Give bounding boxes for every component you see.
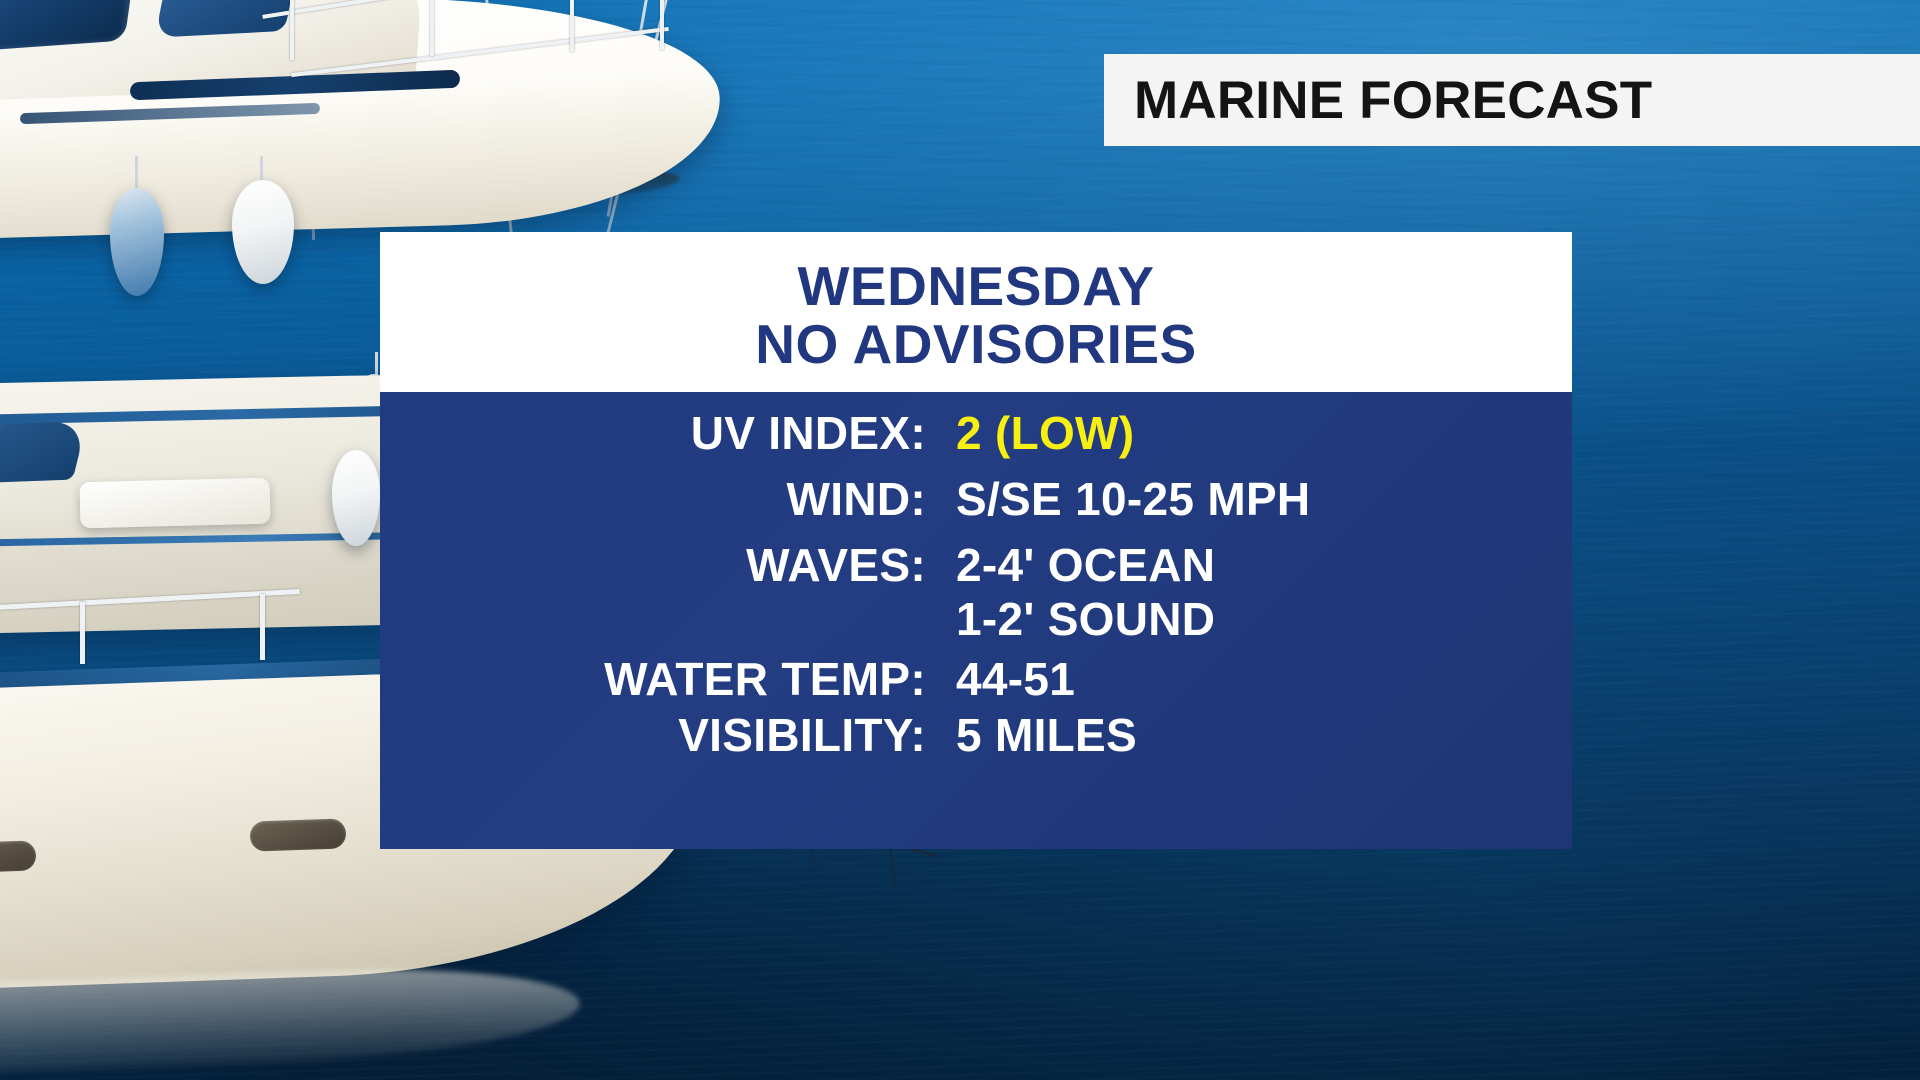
row-value: S/SE 10-25 MPH <box>926 472 1310 526</box>
row-value: 1-2' SOUND <box>380 592 1215 646</box>
row-value: 2 (LOW) <box>926 406 1134 460</box>
forecast-details-list: UV INDEX: 2 (LOW) WIND: S/SE 10-25 MPH W… <box>380 392 1572 849</box>
middle-yacht-seat <box>79 478 270 529</box>
lower-yacht-reflection <box>0 962 581 1080</box>
fender-line <box>260 156 263 182</box>
forecast-row-uv-index: UV INDEX: 2 (LOW) <box>380 406 1572 460</box>
hull-portlight <box>250 818 347 851</box>
rail-stanchion <box>80 602 85 664</box>
row-value: 44-51 <box>926 652 1075 706</box>
row-label: WAVES: <box>380 538 926 592</box>
forecast-advisory-status: NO ADVISORIES <box>755 315 1196 373</box>
rail-stanchion <box>260 594 265 660</box>
forecast-row-water-temp: WATER TEMP: 44-51 <box>380 652 1572 706</box>
forecast-row-waves: WAVES: 2-4' OCEAN <box>380 538 1572 592</box>
forecast-day: WEDNESDAY <box>798 257 1155 315</box>
row-label: VISIBILITY: <box>380 708 926 762</box>
fender-line <box>375 352 378 376</box>
row-label: WATER TEMP: <box>380 652 926 706</box>
forecast-panel: WEDNESDAY NO ADVISORIES UV INDEX: 2 (LOW… <box>380 232 1572 849</box>
fender-buoy <box>232 180 294 284</box>
rail-stanchion <box>430 0 434 56</box>
forecast-row-wind: WIND: S/SE 10-25 MPH <box>380 472 1572 526</box>
rail-stanchion <box>290 0 294 60</box>
marine-forecast-graphic: MARINE FORECAST WEDNESDAY NO ADVISORIES … <box>0 0 1920 1080</box>
row-value: 5 MILES <box>926 708 1137 762</box>
fender-line <box>135 156 138 190</box>
forecast-row-waves-sound: 1-2' SOUND <box>380 592 1572 646</box>
forecast-panel-header: WEDNESDAY NO ADVISORIES <box>380 232 1572 392</box>
row-label: UV INDEX: <box>380 406 926 460</box>
rail-stanchion <box>660 0 664 50</box>
rail-stanchion <box>570 0 574 52</box>
row-value: 2-4' OCEAN <box>926 538 1215 592</box>
header-banner: MARINE FORECAST <box>1104 54 1920 146</box>
forecast-row-visibility: VISIBILITY: 5 MILES <box>380 708 1572 762</box>
row-label: WIND: <box>380 472 926 526</box>
fender-buoy <box>110 188 164 296</box>
page-title: MARINE FORECAST <box>1134 70 1652 131</box>
